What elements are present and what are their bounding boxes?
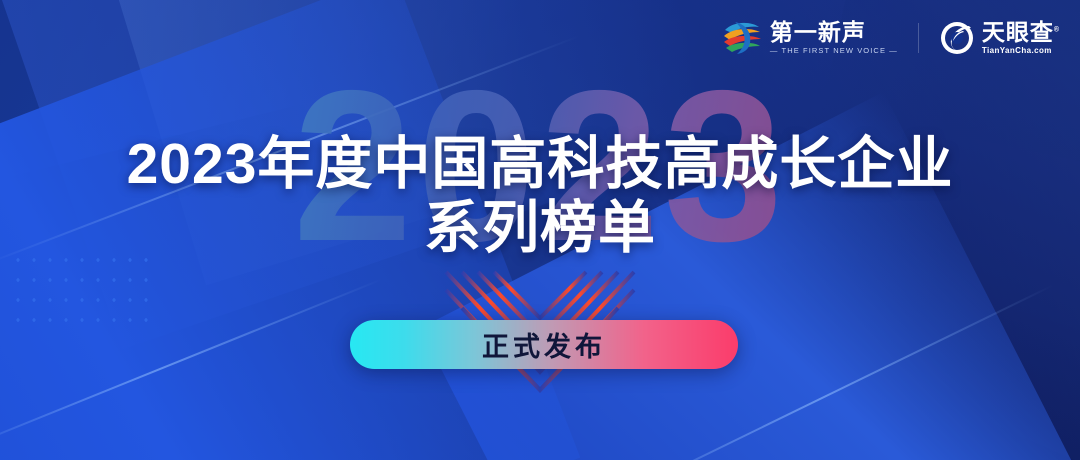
logo-bar: 第一新声 — THE FIRST NEW VOICE — 天眼查® TianYa… xyxy=(721,14,1060,62)
release-button[interactable]: 正式发布 xyxy=(350,320,738,369)
diyixinsheng-swirl-icon xyxy=(721,19,763,57)
tianyancha-name: 天眼查® xyxy=(982,21,1060,44)
background-edge-line-bottom-right xyxy=(586,284,1054,460)
page-title: 2023年度中国高科技高成长企业 系列榜单 xyxy=(0,132,1080,261)
logo-diyixinsheng[interactable]: 第一新声 — THE FIRST NEW VOICE — xyxy=(721,19,898,57)
logo-divider xyxy=(918,23,919,53)
diyixinsheng-name: 第一新声 xyxy=(770,21,898,44)
tianyancha-domain: TianYanCha.com xyxy=(982,47,1060,55)
release-button-label: 正式发布 xyxy=(482,325,606,364)
registered-mark: ® xyxy=(1054,26,1060,33)
promo-banner: 2023 xyxy=(0,0,1080,460)
title-line-2: 系列榜单 xyxy=(0,196,1080,260)
logo-tianyancha[interactable]: 天眼查® TianYanCha.com xyxy=(939,20,1060,56)
diyixinsheng-text: 第一新声 — THE FIRST NEW VOICE — xyxy=(770,21,898,55)
tianyancha-text: 天眼查® TianYanCha.com xyxy=(982,21,1060,55)
tianyancha-eye-icon xyxy=(939,20,975,56)
title-line-1: 2023年度中国高科技高成长企业 xyxy=(0,132,1080,196)
tianyancha-name-cn: 天眼查 xyxy=(982,19,1054,45)
diyixinsheng-tagline: — THE FIRST NEW VOICE — xyxy=(770,47,898,55)
